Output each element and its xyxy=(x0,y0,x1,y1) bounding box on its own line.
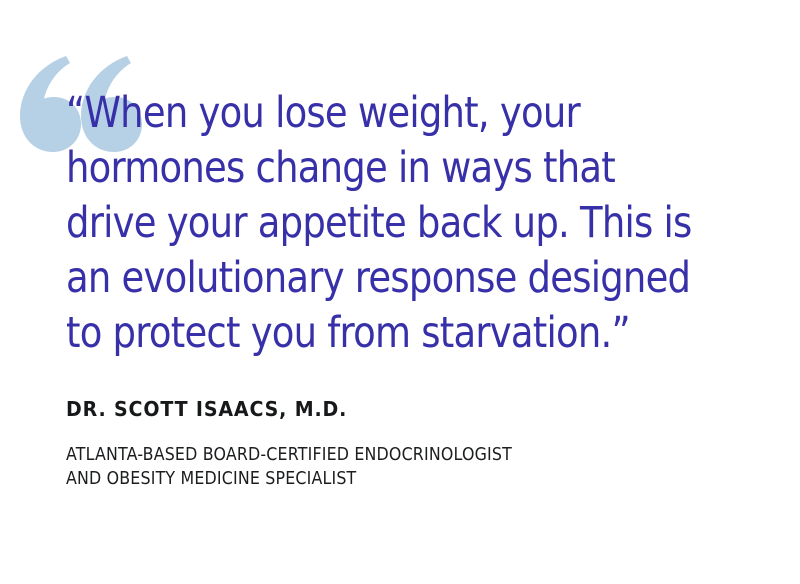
attribution-role: ATLANTA-BASED BOARD-CERTIFIED ENDOCRINOL… xyxy=(66,443,766,491)
attribution-block: DR. SCOTT ISAACS, M.D. ATLANTA-BASED BOA… xyxy=(66,396,766,491)
quote-line: an evolutionary response designed xyxy=(66,251,694,306)
quote-line: to protect you from starvation.” xyxy=(66,306,694,361)
attribution-role-line: AND OBESITY MEDICINE SPECIALIST xyxy=(66,467,682,491)
quote-body: “When you lose weight, your hormones cha… xyxy=(66,86,796,361)
pull-quote-card: “When you lose weight, your hormones cha… xyxy=(0,0,800,584)
quote-line: hormones change in ways that xyxy=(66,141,694,196)
attribution-role-line: ATLANTA-BASED BOARD-CERTIFIED ENDOCRINOL… xyxy=(66,443,682,467)
quote-line: drive your appetite back up. This is xyxy=(66,196,694,251)
attribution-name: DR. SCOTT ISAACS, M.D. xyxy=(66,396,731,422)
quote-line: “When you lose weight, your xyxy=(66,86,694,141)
